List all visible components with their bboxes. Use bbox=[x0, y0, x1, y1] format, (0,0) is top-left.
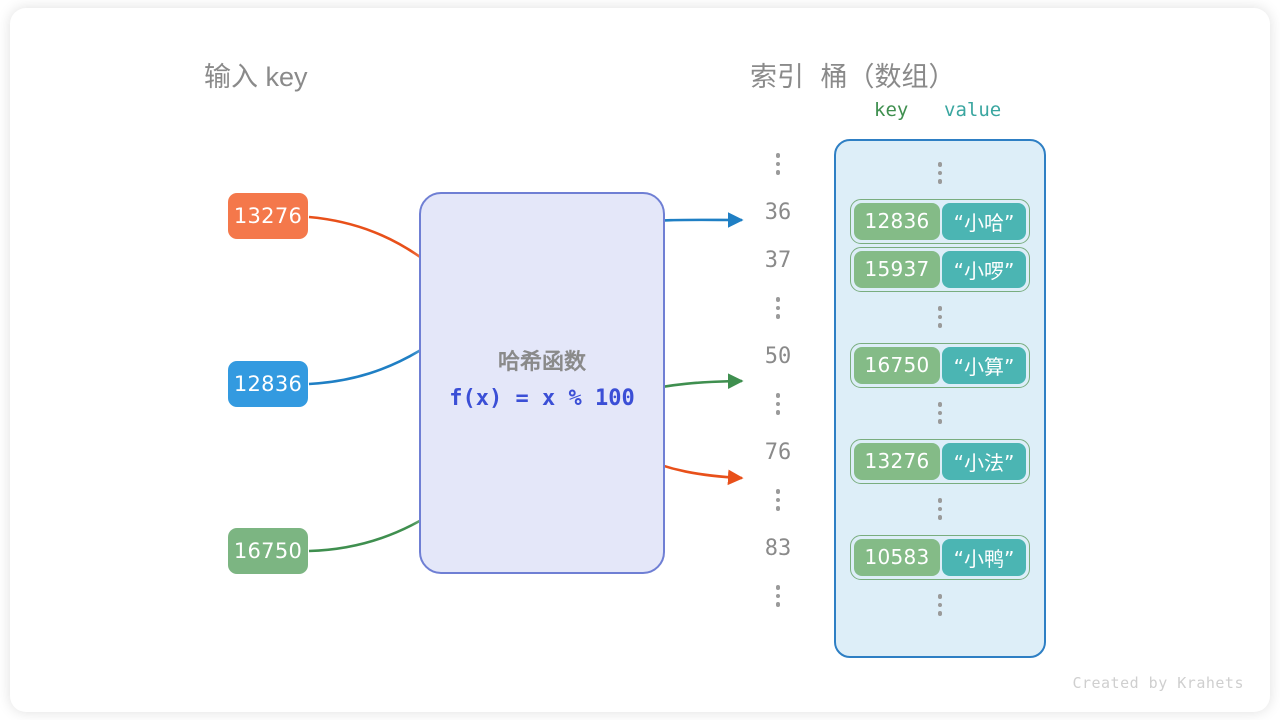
index-value-76: 76 bbox=[742, 428, 814, 476]
bucket-entry-10583: 10583“小鸭” bbox=[836, 533, 1044, 581]
index-value-36: 36 bbox=[742, 188, 814, 236]
pair-value: “小啰” bbox=[942, 251, 1026, 288]
bucket-ellipsis bbox=[836, 485, 1044, 533]
hash-function-formula: f(x) = x % 100 bbox=[421, 386, 663, 411]
bucket-ellipsis bbox=[836, 389, 1044, 437]
pair-key: 10583 bbox=[854, 539, 940, 576]
vertical-ellipsis-icon bbox=[776, 487, 781, 513]
pair-value: “小法” bbox=[942, 443, 1026, 480]
bucket-ellipsis bbox=[836, 581, 1044, 629]
bucket-column-header: 桶（数组） bbox=[821, 55, 956, 94]
input-key-chip-13276[interactable]: 13276 bbox=[228, 193, 308, 239]
diagram-canvas: 输入 key 索引 桶（数组） key value bbox=[0, 0, 1280, 720]
pair-value: “小鸭” bbox=[942, 539, 1026, 576]
vertical-ellipsis-icon bbox=[938, 304, 943, 330]
bucket-ellipsis bbox=[836, 293, 1044, 341]
vertical-ellipsis-icon bbox=[938, 400, 943, 426]
hash-function-box: 哈希函数 f(x) = x % 100 bbox=[419, 192, 665, 574]
bucket-array: 12836“小哈”15937“小啰”16750“小算”13276“小法”1058… bbox=[834, 139, 1046, 658]
key-value-pair[interactable]: 15937“小啰” bbox=[850, 247, 1030, 292]
pair-key: 13276 bbox=[854, 443, 940, 480]
key-value-pair[interactable]: 10583“小鸭” bbox=[850, 535, 1030, 580]
key-value-pair[interactable]: 12836“小哈” bbox=[850, 199, 1030, 244]
bucket-entry-13276: 13276“小法” bbox=[836, 437, 1044, 485]
pair-key: 15937 bbox=[854, 251, 940, 288]
vertical-ellipsis-icon bbox=[776, 583, 781, 609]
input-key-chip-12836[interactable]: 12836 bbox=[228, 361, 308, 407]
vertical-ellipsis-icon bbox=[776, 151, 781, 177]
index-ellipsis bbox=[742, 572, 814, 620]
index-value-83: 83 bbox=[742, 524, 814, 572]
index-column: 3637507683 bbox=[742, 140, 814, 620]
input-column-header: 输入 key bbox=[204, 55, 308, 94]
key-subheader: key bbox=[874, 99, 908, 121]
index-ellipsis bbox=[742, 140, 814, 188]
credit-label: Created by Krahets bbox=[1072, 674, 1244, 692]
index-ellipsis bbox=[742, 476, 814, 524]
bucket-entry-16750: 16750“小算” bbox=[836, 341, 1044, 389]
vertical-ellipsis-icon bbox=[938, 160, 943, 186]
bucket-ellipsis bbox=[836, 149, 1044, 197]
vertical-ellipsis-icon bbox=[776, 295, 781, 321]
index-column-header: 索引 bbox=[750, 55, 804, 94]
vertical-ellipsis-icon bbox=[938, 592, 943, 618]
key-value-pair[interactable]: 16750“小算” bbox=[850, 343, 1030, 388]
pair-value: “小算” bbox=[942, 347, 1026, 384]
vertical-ellipsis-icon bbox=[776, 391, 781, 417]
index-value-37: 37 bbox=[742, 236, 814, 284]
pair-value: “小哈” bbox=[942, 203, 1026, 240]
vertical-ellipsis-icon bbox=[938, 496, 943, 522]
index-ellipsis bbox=[742, 380, 814, 428]
hash-function-title: 哈希函数 bbox=[421, 344, 663, 376]
bucket-entry-12836: 12836“小哈” bbox=[836, 197, 1044, 245]
bucket-entry-15937: 15937“小啰” bbox=[836, 245, 1044, 293]
index-value-50: 50 bbox=[742, 332, 814, 380]
index-ellipsis bbox=[742, 284, 814, 332]
value-subheader: value bbox=[944, 99, 1001, 121]
pair-key: 12836 bbox=[854, 203, 940, 240]
input-key-chip-16750[interactable]: 16750 bbox=[228, 528, 308, 574]
pair-key: 16750 bbox=[854, 347, 940, 384]
key-value-pair[interactable]: 13276“小法” bbox=[850, 439, 1030, 484]
